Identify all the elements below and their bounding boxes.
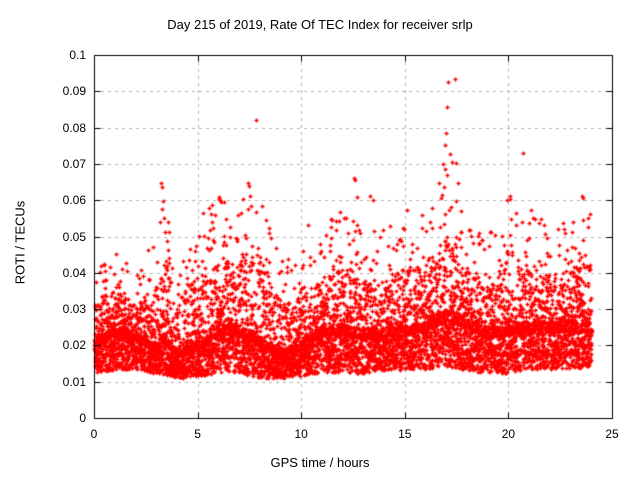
y-tick-label: 0 [26, 412, 86, 424]
y-tick-label: 0.07 [26, 158, 86, 170]
x-tick-label: 10 [271, 428, 331, 440]
x-tick-label: 0 [64, 428, 124, 440]
y-tick-label: 0.06 [26, 194, 86, 206]
y-tick-label: 0.09 [26, 85, 86, 97]
y-tick-label: 0.1 [26, 49, 86, 61]
x-axis-title: GPS time / hours [0, 456, 640, 469]
y-tick-label: 0.04 [26, 267, 86, 279]
chart-title: Day 215 of 2019, Rate Of TEC Index for r… [0, 18, 640, 31]
x-tick-label: 15 [375, 428, 435, 440]
y-axis-title: ROTI / TECUs [14, 163, 27, 323]
y-tick-label: 0.08 [26, 122, 86, 134]
y-tick-label: 0.05 [26, 231, 86, 243]
y-tick-label: 0.02 [26, 339, 86, 351]
x-tick-label: 5 [168, 428, 228, 440]
x-tick-label: 25 [582, 428, 640, 440]
x-tick-label: 20 [478, 428, 538, 440]
y-tick-label: 0.01 [26, 376, 86, 388]
chart-container: Day 215 of 2019, Rate Of TEC Index for r… [0, 0, 640, 480]
scatter-plot-canvas [0, 0, 640, 480]
y-tick-label: 0.03 [26, 303, 86, 315]
